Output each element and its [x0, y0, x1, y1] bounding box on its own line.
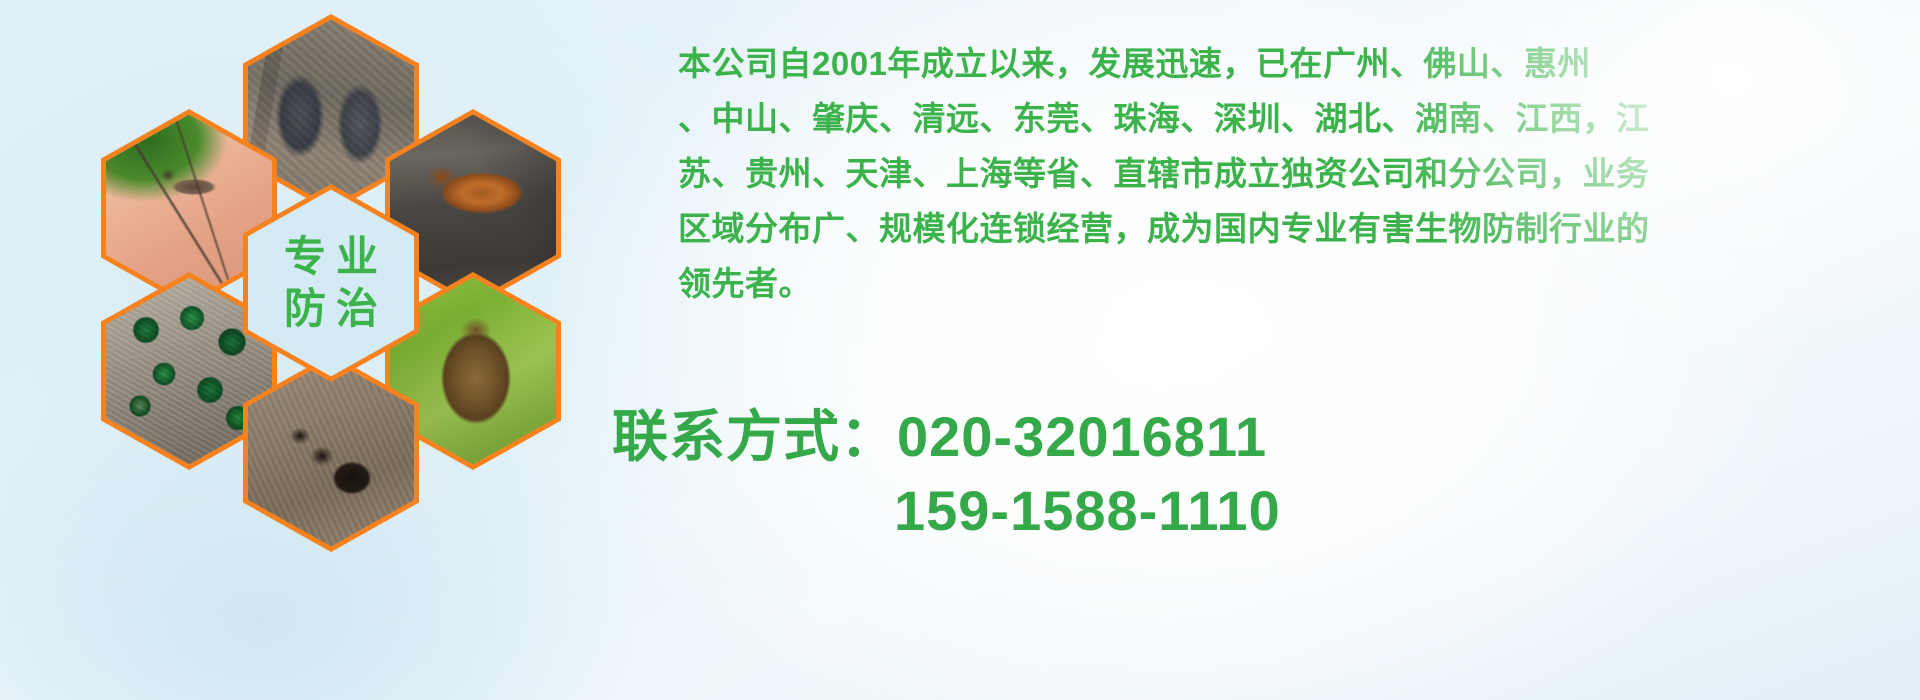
hex-inner-ant [248, 360, 414, 547]
logo-slogan: 专业 防治 [248, 190, 414, 377]
contact-block: 联系方式：020-32016811 159-1588-1110 [612, 400, 1281, 548]
intro-line-4: 区域分布广、规模化连锁经营，成为国内专业有害生物防制行业的 [612, 201, 1912, 256]
logo-slogan-line-2: 防治 [274, 288, 388, 330]
intro-line-5: 领先者。 [612, 256, 1912, 311]
contact-secondary-row: 159-1588-1110 [612, 474, 1281, 548]
contact-primary-row: 联系方式：020-32016811 [612, 400, 1281, 474]
contact-phone-mobile[interactable]: 159-1588-1110 [894, 479, 1281, 542]
hex-inner-center: 专业 防治 [248, 190, 414, 377]
contact-phone-landline[interactable]: 020-32016811 [897, 405, 1267, 468]
banner-root: 专业 防治 本公司自2001年成立以来，发展迅速，已在广州、佛山、惠州 、中山、… [0, 0, 1920, 700]
contact-label: 联系方式： [612, 405, 897, 468]
logo-slogan-line-1: 专业 [274, 236, 388, 278]
intro-line-2: 、中山、肇庆、清远、东莞、珠海、深圳、湖北、湖南、江西，江 [612, 91, 1912, 146]
honeycomb-logo: 专业 防治 [88, 14, 588, 559]
intro-text-block: 本公司自2001年成立以来，发展迅速，已在广州、佛山、惠州 、中山、肇庆、清远、… [612, 36, 1912, 311]
ant-photo [248, 360, 414, 547]
company-intro-paragraph: 本公司自2001年成立以来，发展迅速，已在广州、佛山、惠州 、中山、肇庆、清远、… [612, 36, 1912, 311]
intro-line-1: 本公司自2001年成立以来，发展迅速，已在广州、佛山、惠州 [612, 36, 1912, 91]
intro-line-3: 苏、贵州、天津、上海等省、直辖市成立独资公司和分公司，业务 [612, 146, 1912, 201]
